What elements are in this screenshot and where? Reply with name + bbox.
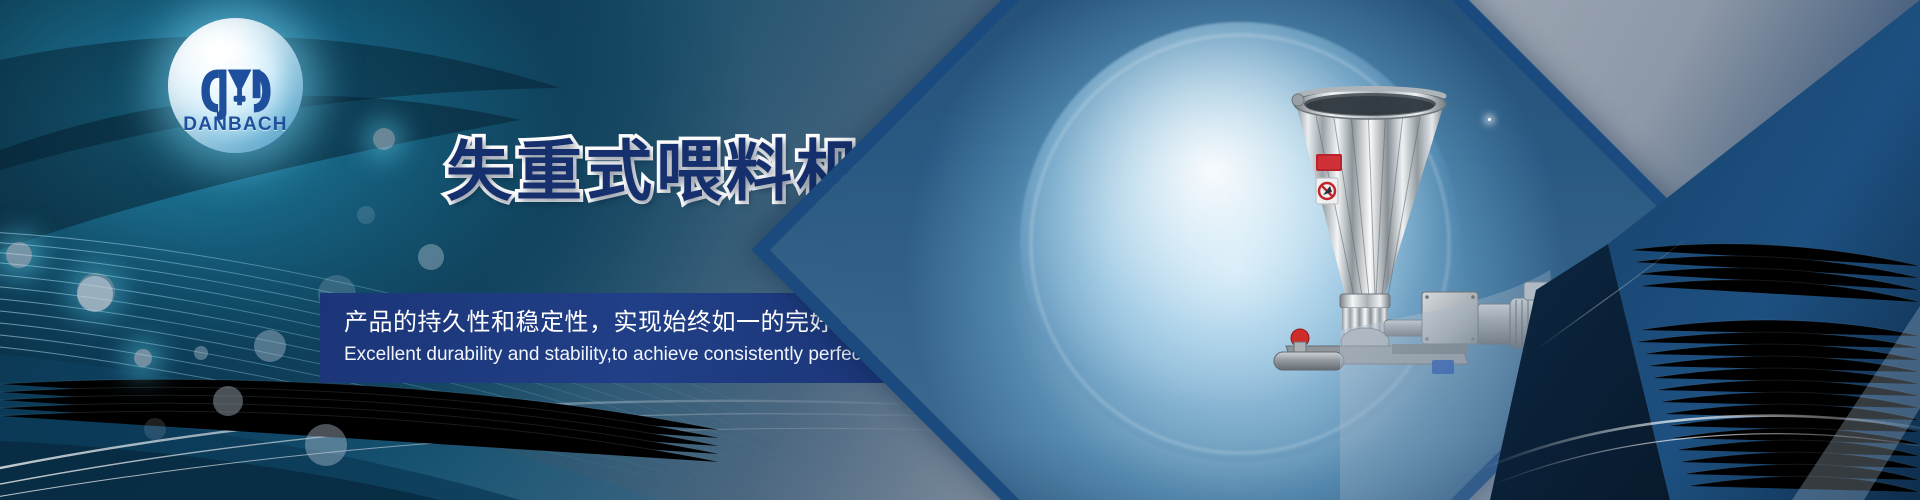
bokeh-circle — [77, 276, 113, 312]
brand-wordmark: DANBACH — [183, 114, 287, 136]
bokeh-circle — [418, 244, 444, 270]
bokeh-circle — [357, 206, 375, 224]
tagline-box: 产品的持久性和稳定性，实现始终如一的完好品质! Excellent durabi… — [320, 293, 890, 383]
bokeh-circle — [213, 386, 243, 416]
bokeh-circle — [305, 424, 347, 466]
bokeh-circle — [194, 346, 208, 360]
danbach-monogram-icon — [200, 60, 272, 122]
product-banner: DANBACH 失重式喂料机 产品的持久性和稳定性，实现始终如一的完好品质! E… — [0, 0, 1920, 500]
bokeh-circle — [254, 330, 286, 362]
logo-sphere: DANBACH — [168, 18, 303, 153]
bokeh-circle — [373, 128, 395, 150]
tagline-chinese: 产品的持久性和稳定性，实现始终如一的完好品质! — [344, 306, 866, 340]
bokeh-circle — [144, 418, 166, 440]
bokeh-circle — [6, 242, 32, 268]
tagline-english: Excellent durability and stability,to ac… — [344, 340, 866, 370]
product-image — [1272, 46, 1602, 376]
bokeh-circle — [134, 349, 152, 367]
